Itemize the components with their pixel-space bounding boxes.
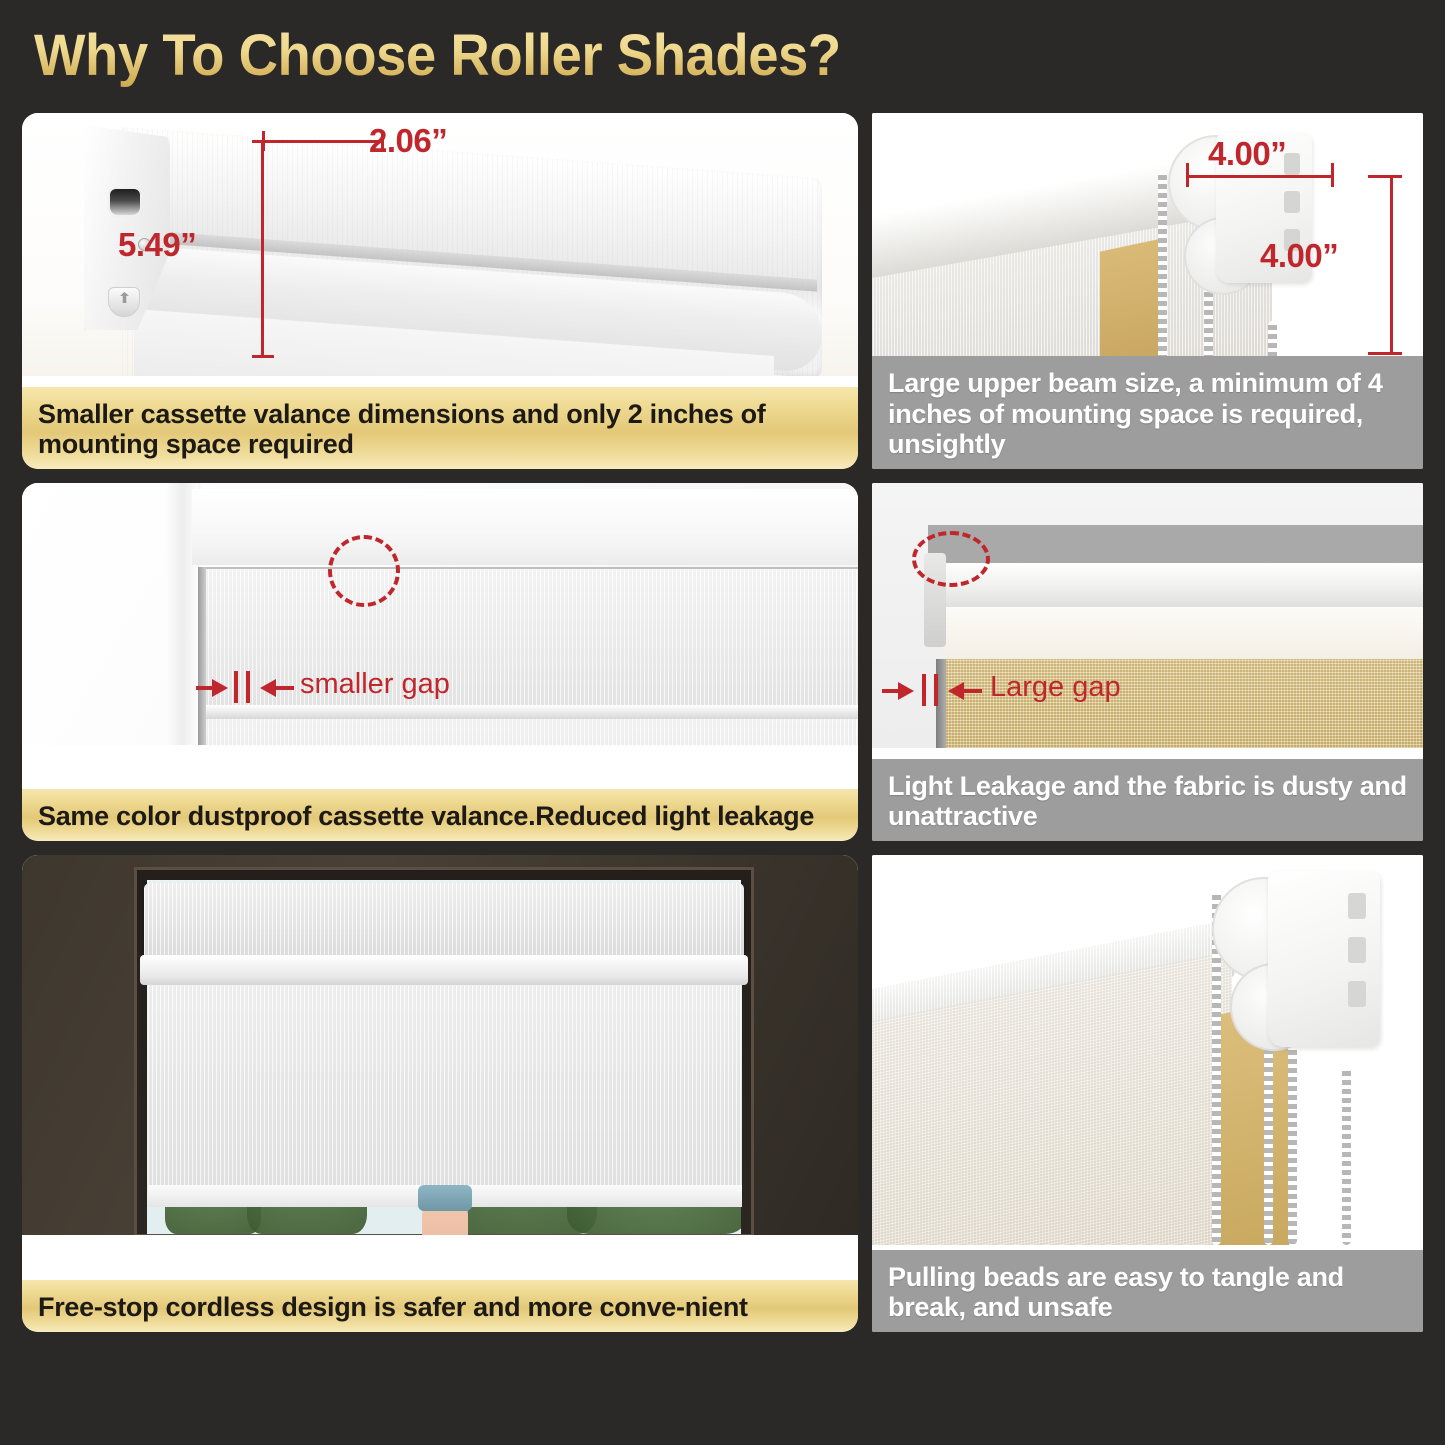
pull-grip bbox=[418, 1185, 472, 1211]
panel-4-photo: Large gap bbox=[872, 483, 1423, 748]
panel-6-caption: Pulling beads are easy to tangle and bre… bbox=[872, 1250, 1423, 1332]
panel-pulling-beads: Pulling beads are easy to tangle and bre… bbox=[872, 855, 1423, 1332]
beam-width-label: 4.00” bbox=[1208, 135, 1286, 173]
shade-fabric bbox=[148, 985, 742, 1197]
panel-smaller-cassette: 2.06” 5.49” Smaller cassette valance dim… bbox=[22, 113, 858, 469]
highlight-circle-icon bbox=[328, 535, 400, 607]
bead-chain bbox=[1158, 171, 1167, 377]
beam-shadow bbox=[928, 525, 1423, 567]
window-head bbox=[192, 489, 858, 565]
panel-1-caption: Smaller cassette valance dimensions and … bbox=[22, 387, 858, 469]
panel-5-photo bbox=[22, 855, 858, 1235]
page-title: Why To Choose Roller Shades? bbox=[34, 22, 841, 89]
panel-cordless-design: Free-stop cordless design is safer and m… bbox=[22, 855, 858, 1332]
panel-dustproof-cassette: smaller gap Same color dustproof cassett… bbox=[22, 483, 858, 841]
valance-slot bbox=[108, 187, 142, 217]
panel-1-photo: 2.06” 5.49” bbox=[22, 113, 858, 376]
panel-light-leakage: Large gap Light Leakage and the fabric i… bbox=[872, 483, 1423, 841]
width-dimension-label: 2.06” bbox=[369, 122, 447, 160]
panel-large-upper-beam: 4.00” 4.00” Large upper beam size, a min… bbox=[872, 113, 1423, 469]
panel-2-photo: 4.00” 4.00” bbox=[872, 113, 1423, 377]
valance-fabric bbox=[942, 607, 1423, 659]
shade-upper bbox=[200, 567, 858, 707]
large-gap-label: Large gap bbox=[990, 671, 1121, 704]
beam-height-label: 4.00” bbox=[1260, 237, 1338, 275]
shade-lip bbox=[140, 955, 748, 985]
panel-2-caption: Large upper beam size, a minimum of 4 in… bbox=[872, 356, 1423, 469]
highlight-circle-icon bbox=[912, 531, 990, 587]
panel-3-caption: Same color dustproof cassette valance.Re… bbox=[22, 789, 858, 841]
shade-cassette bbox=[144, 883, 744, 959]
mounting-bracket bbox=[1212, 865, 1392, 1095]
panel-3-photo: smaller gap bbox=[22, 483, 858, 745]
infographic-page: Why To Choose Roller Shades? 2.06” bbox=[0, 0, 1445, 1445]
smaller-gap-label: smaller gap bbox=[300, 668, 450, 701]
shade-lower bbox=[200, 719, 858, 745]
roller-tube bbox=[928, 563, 1423, 611]
shade-rail bbox=[200, 705, 858, 719]
panel-5-caption: Free-stop cordless design is safer and m… bbox=[22, 1280, 858, 1332]
panel-4-caption: Light Leakage and the fabric is dusty an… bbox=[872, 759, 1423, 841]
height-dimension-label: 5.49” bbox=[118, 226, 196, 264]
panel-6-photo bbox=[872, 855, 1423, 1245]
gap-strip bbox=[198, 567, 206, 745]
